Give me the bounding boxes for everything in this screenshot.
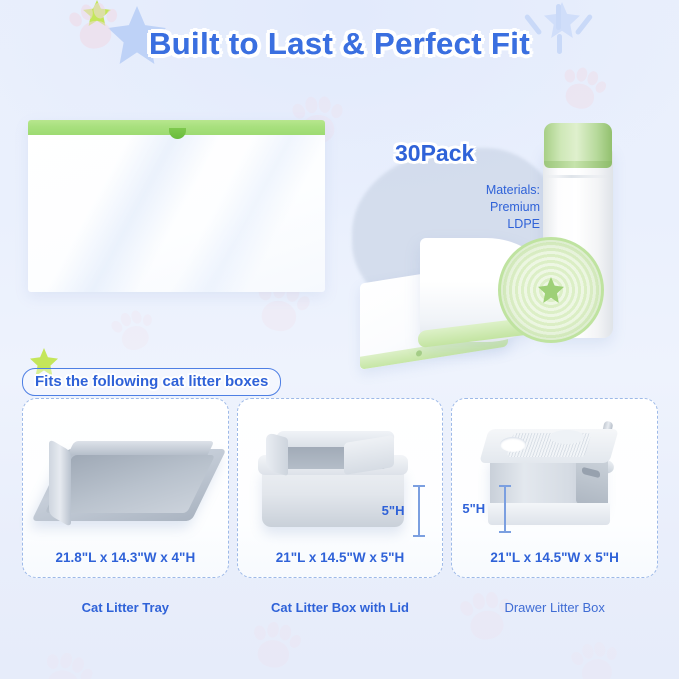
materials-line-3: LDPE [412,216,540,233]
materials-line-2: Premium [412,199,540,216]
cat-litter-box-with-lid-image: 5"H [238,407,443,539]
liner-roll-image [420,238,592,342]
infographic-page: Built to Last & Perfect Fit 30Pack Mater… [0,0,679,679]
cat-litter-tray-image [23,407,228,539]
callout-bar [504,485,506,533]
card-dimensions: 21"L x 14.5"W x 5"H [238,550,443,565]
caption-cat-litter-box-with-lid: Cat Litter Box with Lid [237,600,444,615]
callout-label: 5"H [382,503,405,518]
product-card-drawer-litter-box[interactable]: 5"H 21"L x 14.5"W x 5"H [451,398,658,578]
canister-seam [545,175,611,178]
materials-note: Materials: Premium LDPE [412,182,540,233]
tray-back-wall [68,441,215,455]
callout-bar [418,485,420,537]
product-card-cat-litter-box-with-lid[interactable]: 5"H 21"L x 14.5"W x 5"H [237,398,444,578]
liner-pull-tab [169,128,186,139]
liner-sheet-image [28,120,325,292]
fits-label: Fits the following cat litter boxes [22,368,281,396]
callout-cap-bottom [413,535,425,537]
callout-label: 5"H [462,501,485,516]
box-left-wall [266,432,288,476]
card-dimensions: 21"L x 14.5"W x 5"H [452,550,657,565]
caption-cat-litter-tray: Cat Litter Tray [22,600,229,615]
card-dimensions: 21.8"L x 14.3"W x 4"H [23,550,228,565]
page-title: Built to Last & Perfect Fit [0,26,679,62]
caption-drawer-litter-box: Drawer Litter Box [451,600,658,615]
product-caption-list: Cat Litter Tray Cat Litter Box with Lid … [22,600,658,615]
tray-side-lip [49,439,71,528]
tray-illustration [49,433,209,525]
callout-cap-bottom [499,531,511,533]
pack-count-badge: 30Pack [395,140,474,167]
box-base [262,467,404,527]
drawer-litter-box-image: 5"H [452,407,657,539]
materials-line-1: Materials: [412,182,540,199]
drawer-pull-out-tray [488,503,610,525]
canister-cap-lip [544,161,612,168]
canister-cap [544,123,612,165]
product-card-cat-litter-tray[interactable]: 21.8"L x 14.3"W x 4"H [22,398,229,578]
star-icon-green-top-left [83,0,111,26]
product-card-list: 21.8"L x 14.3"W x 4"H 5"H [22,398,658,578]
